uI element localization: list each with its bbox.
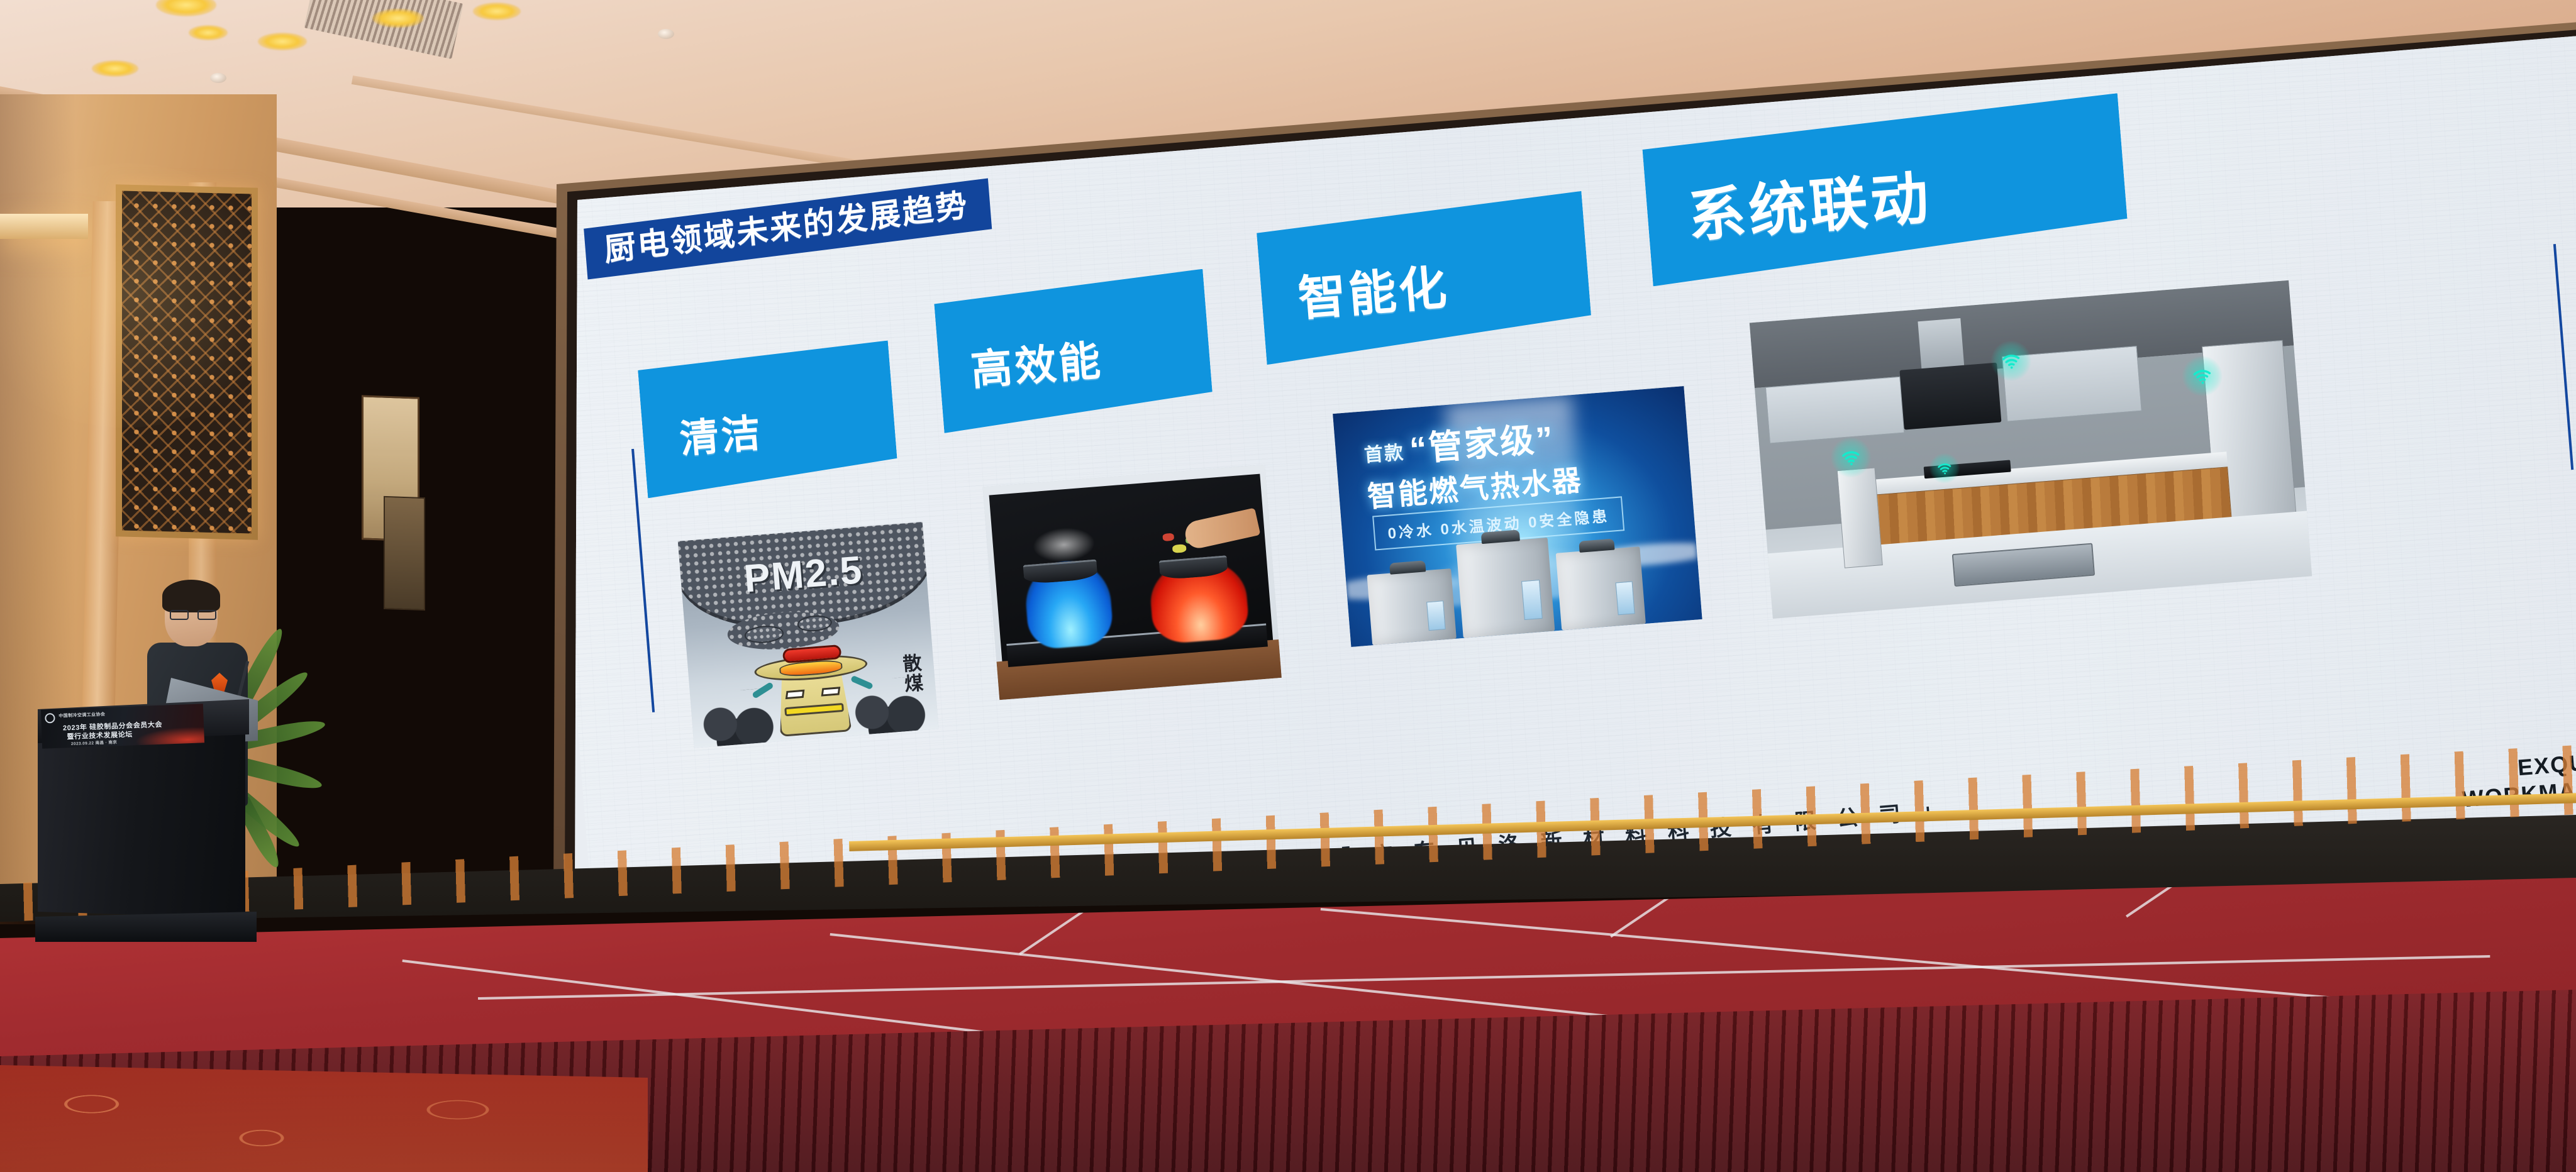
- ceiling-light: [372, 9, 424, 28]
- podium-base: [35, 912, 257, 942]
- carpet-pattern: [0, 1059, 654, 1172]
- heater-flue-cap: [1481, 530, 1520, 545]
- photo-pm25: PM2.5 散: [678, 522, 939, 748]
- accent-line-right: [2553, 244, 2573, 470]
- banner-date: 2023.09.22 南昌 · 南京: [71, 738, 118, 746]
- mascot-eye: [821, 687, 840, 697]
- wall-cabinet: [1765, 377, 1904, 443]
- ceiling-light: [92, 60, 138, 77]
- trend-banner-3[interactable]: 智能化: [1255, 191, 1593, 365]
- trend-label-4: 系统联动: [1684, 151, 1934, 253]
- decorative-lattice-panel: [116, 184, 258, 540]
- heater-flue-cap: [1389, 561, 1426, 575]
- podium: 中国制冷空调工业协会 2023年 硅胶制品分会会员大会 暨行业技术发展论坛 20…: [38, 678, 264, 942]
- smoke-detector-icon: [210, 73, 226, 83]
- heater-flue-cap: [1579, 539, 1615, 553]
- trend-label-3: 智能化: [1296, 248, 1452, 329]
- wall-light-cove: [0, 214, 88, 239]
- glasses-icon: [170, 610, 216, 620]
- heater-badge: [1521, 580, 1543, 621]
- photo-smart-kitchen: [1750, 280, 2312, 619]
- ad-line1: 首款: [1363, 436, 1405, 467]
- podium-conference-banner: 中国制冷空调工业协会 2023年 硅胶制品分会会员大会 暨行业技术发展论坛 20…: [41, 704, 204, 748]
- smoke-detector-icon: [658, 29, 674, 39]
- ceiling-light: [156, 0, 216, 16]
- water-heater-unit: [1456, 538, 1555, 638]
- lattice-diamond-dots: [122, 191, 252, 533]
- speaker-hair: [162, 580, 220, 612]
- trend-banner-1[interactable]: 清洁: [637, 341, 899, 499]
- water-heater-unit: [1367, 568, 1457, 645]
- trend-banner-2[interactable]: 高效能: [933, 269, 1214, 433]
- vegetable-bit: [1162, 533, 1174, 541]
- water-dispenser: [1837, 468, 1882, 568]
- wall-lantern-shade: [384, 496, 425, 611]
- photo-cooktop: [983, 465, 1282, 700]
- ceiling-light: [189, 25, 228, 40]
- association-logo-icon: [45, 713, 55, 724]
- trend-label-1: 清洁: [677, 401, 765, 464]
- water-heater-unit: [1556, 547, 1646, 631]
- ceiling-light: [258, 33, 307, 50]
- ceiling-light: [473, 3, 521, 20]
- banner-organizer: 中国制冷空调工业协会: [58, 711, 105, 719]
- slide-title: 厨电领域未来的发展趋势: [603, 189, 970, 267]
- hvac-vent-icon: [304, 0, 463, 59]
- heater-badge: [1616, 582, 1635, 616]
- heater-badge: [1426, 600, 1445, 631]
- coal-stove-mascot: [753, 639, 872, 739]
- scene-root: b BELL 厨电领域未来的发展趋势 清洁 高效能: [0, 0, 2576, 1172]
- trend-banner-4[interactable]: 系统联动: [1641, 93, 2129, 286]
- range-hood: [1900, 363, 2002, 429]
- pm25-side-label: 散煤: [895, 652, 926, 694]
- trend-label-2: 高效能: [969, 327, 1105, 397]
- mascot-eye: [786, 689, 804, 699]
- photo-water-heater-ad: 首款 “管家级” 智能燃气热水器 0冷水 0水温波动 0安全隐患: [1333, 386, 1702, 647]
